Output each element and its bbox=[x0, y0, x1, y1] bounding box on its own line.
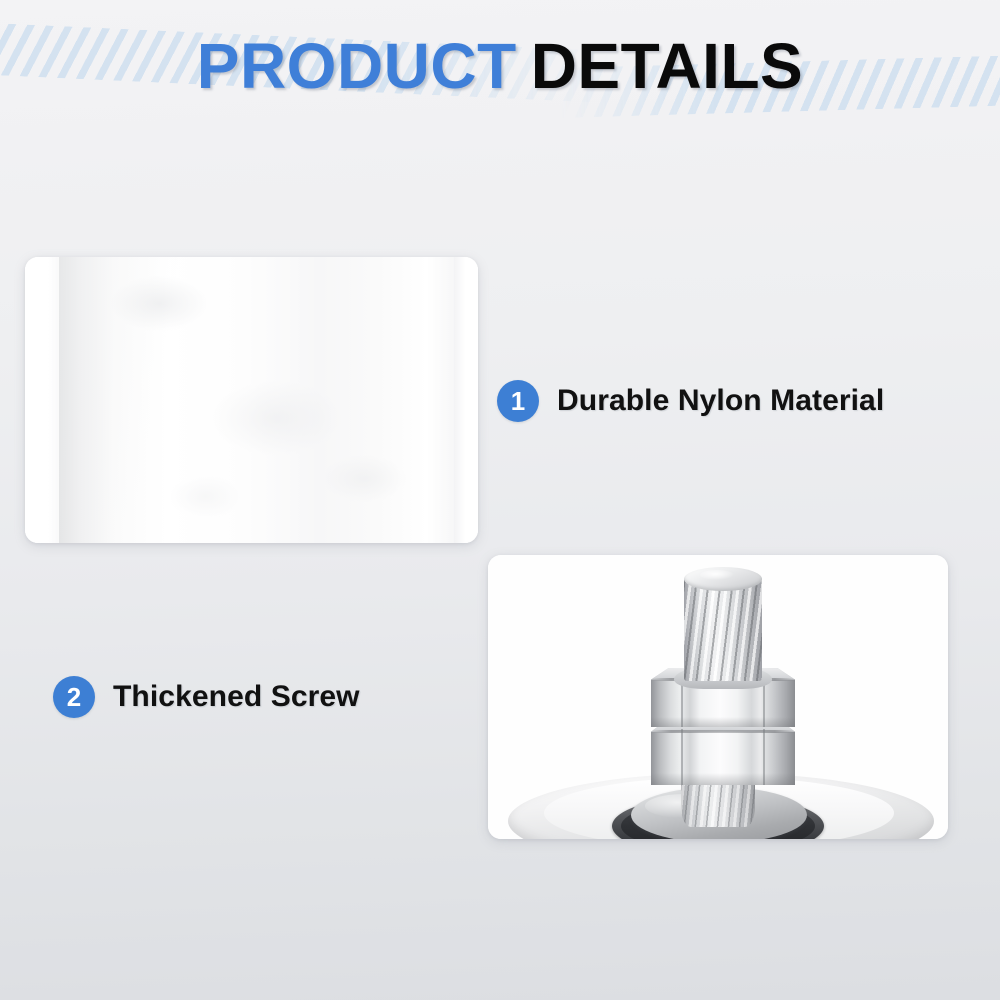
nylon-right-highlight bbox=[454, 257, 478, 543]
feature-callout-1: 1 Durable Nylon Material bbox=[497, 380, 884, 422]
page-title-secondary: DETAILS bbox=[531, 30, 804, 102]
nylon-cylinder-surface bbox=[59, 257, 477, 543]
feature-number-badge-2: 2 bbox=[53, 676, 95, 718]
product-details-page: PRODUCTDETAILS 1 Durable Nylon Material … bbox=[0, 0, 1000, 1000]
nylon-cylinder-closeup-photo bbox=[25, 257, 478, 543]
feature-label-1: Durable Nylon Material bbox=[557, 384, 884, 418]
bolt-top-highlight bbox=[700, 570, 734, 580]
feature-number-badge-1: 1 bbox=[497, 380, 539, 422]
threaded-screw-with-hex-nuts-photo bbox=[488, 555, 948, 839]
screw-photo-scene bbox=[488, 555, 948, 839]
hex-nut-lower-shadow bbox=[651, 773, 795, 785]
threaded-bolt-shank bbox=[684, 577, 762, 681]
page-title: PRODUCTDETAILS bbox=[0, 34, 1000, 98]
nylon-photo-scene bbox=[25, 257, 478, 543]
feature-callout-2: 2 Thickened Screw bbox=[53, 676, 360, 718]
feature-label-2: Thickened Screw bbox=[113, 680, 360, 714]
hex-nut-lower-seam bbox=[651, 730, 795, 733]
hex-nut-upper-shadow bbox=[651, 717, 795, 727]
page-title-primary: PRODUCT bbox=[197, 30, 517, 102]
